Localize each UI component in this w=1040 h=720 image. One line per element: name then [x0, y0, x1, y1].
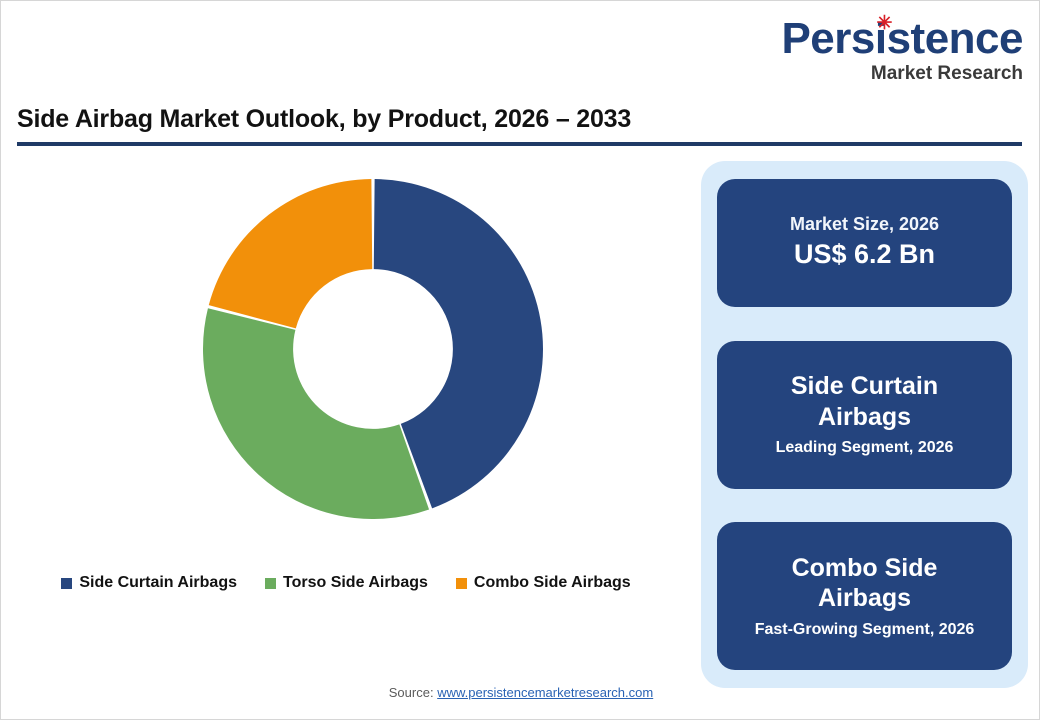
donut-slice-group [203, 179, 543, 519]
donut-chart-svg [203, 179, 543, 519]
logo-wordmark: Persistence ✳ [781, 17, 1023, 61]
chart-legend: Side Curtain Airbags Torso Side Airbags … [1, 574, 691, 592]
card-fast-growing-segment: Combo Side Airbags Fast-Growing Segment,… [717, 522, 1012, 670]
card-market-size: Market Size, 2026 US$ 6.2 Bn [717, 179, 1012, 307]
legend-item-label: Side Curtain Airbags [79, 574, 237, 592]
chart-region: Side Curtain Airbags Torso Side Airbags … [1, 159, 691, 619]
legend-item-torso-side-airbags[interactable]: Torso Side Airbags [265, 574, 428, 592]
logo-primary-text: Persistence [781, 14, 1023, 63]
title-divider [17, 142, 1022, 146]
donut-chart [203, 179, 543, 519]
legend-item-combo-side-airbags[interactable]: Combo Side Airbags [456, 574, 631, 592]
card-leading-segment: Side Curtain Airbags Leading Segment, 20… [717, 341, 1012, 489]
legend-item-side-curtain-airbags[interactable]: Side Curtain Airbags [61, 574, 237, 592]
legend-swatch-icon [265, 578, 276, 589]
legend-swatch-icon [61, 578, 72, 589]
logo-asterisk-icon: ✳ [876, 14, 891, 33]
infographic-canvas: Persistence ✳ Market Research Side Airba… [0, 0, 1040, 720]
legend-item-label: Torso Side Airbags [283, 574, 428, 592]
source-link[interactable]: www.persistencemarketresearch.com [437, 685, 653, 700]
brand-logo: Persistence ✳ Market Research [781, 17, 1023, 83]
page-title: Side Airbag Market Outlook, by Product, … [17, 105, 1025, 134]
donut-slice[interactable] [209, 179, 372, 328]
card-market-size-value: US$ 6.2 Bn [794, 238, 935, 272]
legend-item-label: Combo Side Airbags [474, 574, 631, 592]
card-leading-segment-sub: Leading Segment, 2026 [776, 438, 954, 457]
highlights-panel: Market Size, 2026 US$ 6.2 Bn Side Curtai… [701, 161, 1028, 688]
donut-slice[interactable] [203, 308, 429, 519]
card-market-size-kicker: Market Size, 2026 [790, 214, 939, 236]
source-label: Source: [389, 685, 437, 700]
source-footer: Source: www.persistencemarketresearch.co… [1, 685, 1040, 700]
legend-swatch-icon [456, 578, 467, 589]
logo-tagline: Market Research [781, 64, 1023, 83]
card-fast-growing-segment-headline: Combo Side Airbags [747, 553, 982, 614]
card-fast-growing-segment-sub: Fast-Growing Segment, 2026 [755, 620, 975, 639]
card-leading-segment-headline: Side Curtain Airbags [747, 371, 982, 432]
title-block: Side Airbag Market Outlook, by Product, … [17, 105, 1025, 146]
